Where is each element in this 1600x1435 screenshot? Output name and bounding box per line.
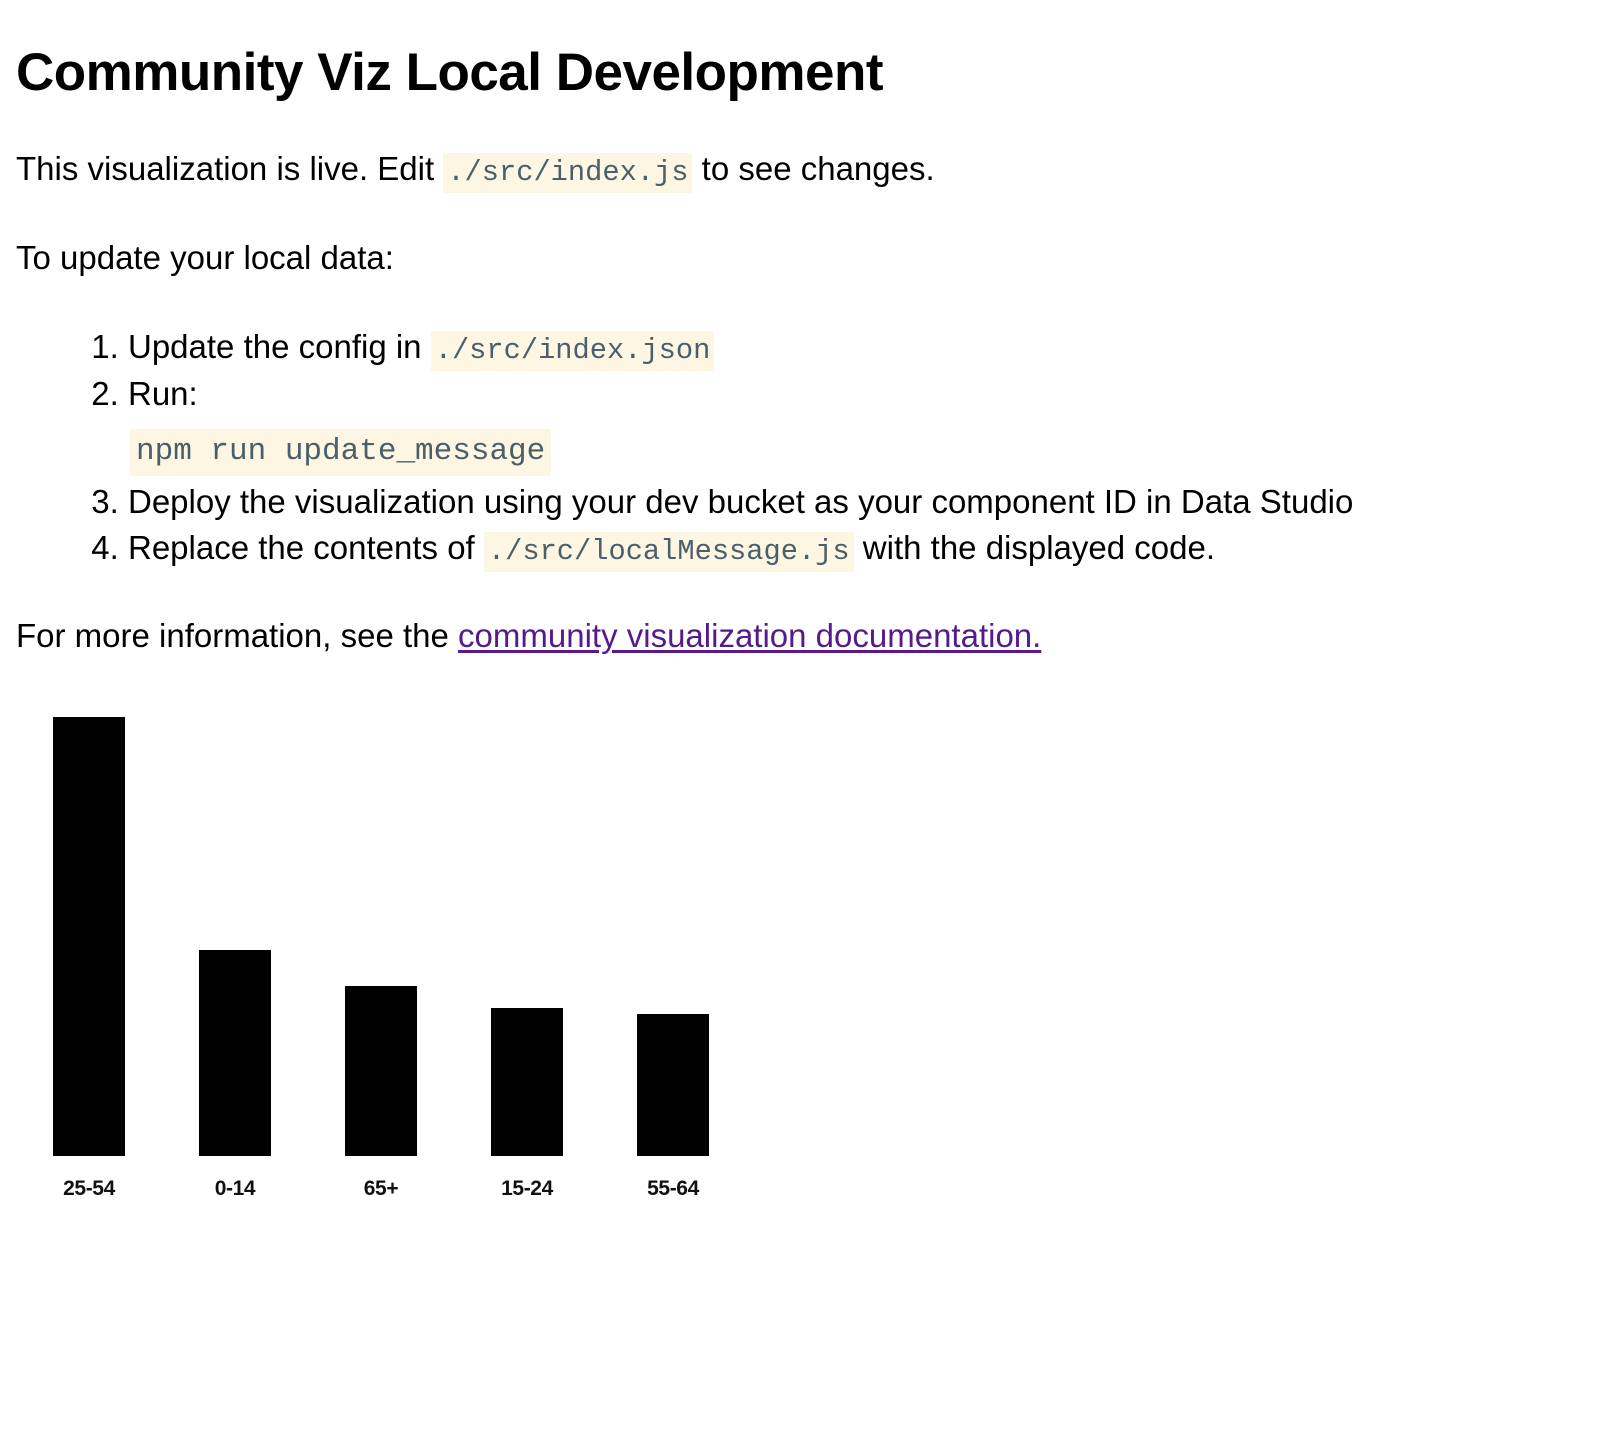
list-item: Run: npm run update_message [128, 371, 1580, 473]
bar-chart: 25-54 0-14 65+ 15-24 55-64 [53, 709, 753, 1209]
chart-x-label: 55-64 [637, 1177, 709, 1201]
chart-bar[interactable] [53, 717, 125, 1156]
inline-code-npm-command: npm run update_message [130, 429, 551, 476]
chart-bar[interactable] [491, 1008, 563, 1156]
intro-text-before: This visualization is live. Edit [16, 150, 443, 187]
chart-x-axis-labels: 25-54 0-14 65+ 15-24 55-64 [53, 1177, 753, 1201]
chart-bars [53, 709, 753, 1156]
command-block: npm run update_message [130, 425, 1580, 474]
community-visualization-documentation-link[interactable]: community visualization documentation. [458, 617, 1041, 654]
chart-x-label: 65+ [345, 1177, 417, 1201]
inline-code-index-js: ./src/index.js [443, 153, 692, 193]
chart-bar[interactable] [637, 1014, 709, 1156]
chart-container: 25-54 0-14 65+ 15-24 55-64 [16, 709, 1580, 1209]
chart-x-label: 25-54 [53, 1177, 125, 1201]
footer-paragraph: For more information, see the community … [16, 615, 1580, 656]
step-4-text-before: Replace the contents of [128, 529, 484, 566]
step-3-text-before: Deploy the visualization using your dev … [128, 483, 1353, 520]
chart-x-label: 15-24 [491, 1177, 563, 1201]
chart-bar[interactable] [345, 986, 417, 1156]
footer-text-before: For more information, see the [16, 617, 458, 654]
inline-code-localmessage-js: ./src/localMessage.js [484, 532, 854, 572]
step-1-text-before: Update the config in [128, 328, 431, 365]
page-root: Community Viz Local Development This vis… [0, 0, 1600, 1209]
list-item: Update the config in ./src/index.json [128, 324, 1580, 371]
step-2-text-before: Run: [128, 375, 198, 412]
step-4-text-after: with the displayed code. [854, 529, 1215, 566]
list-item: Deploy the visualization using your dev … [128, 479, 1580, 525]
steps-list: Update the config in ./src/index.json Ru… [16, 324, 1580, 571]
chart-bar[interactable] [199, 950, 271, 1156]
list-item: Replace the contents of ./src/localMessa… [128, 525, 1580, 572]
inline-code-index-json: ./src/index.json [431, 331, 715, 371]
intro-paragraph: This visualization is live. Edit ./src/i… [16, 148, 1580, 191]
lead-paragraph: To update your local data: [16, 237, 1580, 278]
page-title: Community Viz Local Development [16, 44, 1580, 102]
chart-x-label: 0-14 [199, 1177, 271, 1201]
intro-text-after: to see changes. [692, 150, 934, 187]
